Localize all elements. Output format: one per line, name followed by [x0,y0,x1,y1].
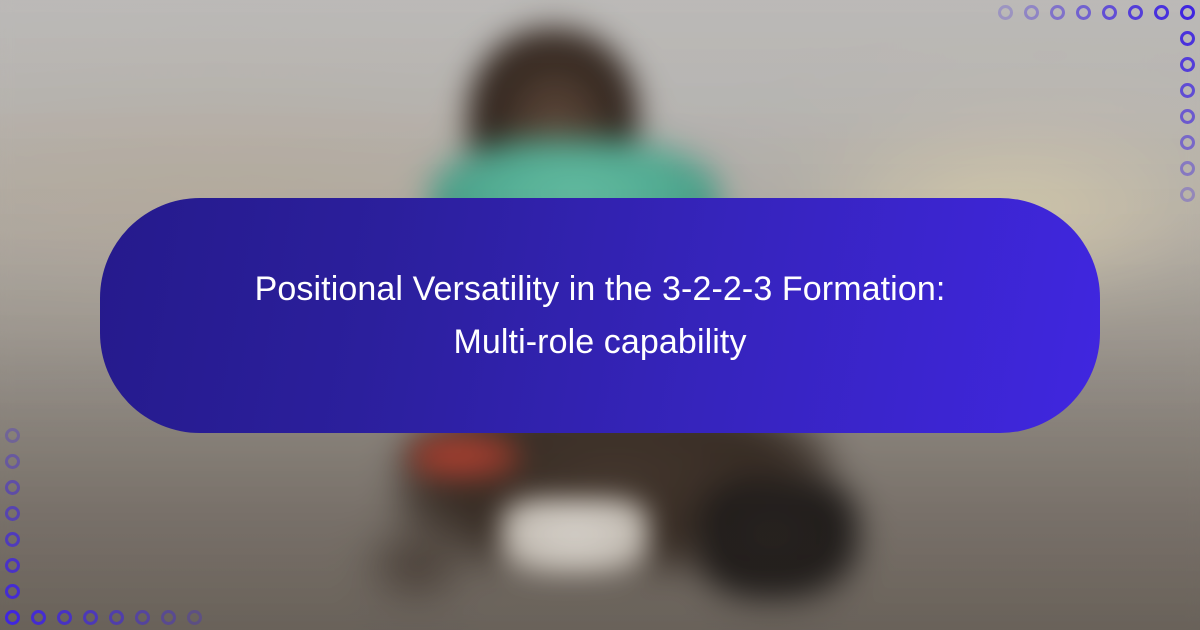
decor-dot [5,428,20,443]
decor-dot [1180,187,1195,202]
decor-dot [1180,135,1195,150]
decor-dot [1180,83,1195,98]
decor-dot [31,610,46,625]
decor-dot [83,610,98,625]
decor-dot [161,610,176,625]
page-title: Positional Versatility in the 3-2-2-3 Fo… [255,263,946,368]
decor-dot [5,480,20,495]
decor-dot [998,5,1013,20]
decor-dot [109,610,124,625]
decor-dot [1180,57,1195,72]
decor-dot [5,558,20,573]
decor-dot [5,506,20,521]
decor-dot [1024,5,1039,20]
decor-dot [57,610,72,625]
social-card-canvas: Positional Versatility in the 3-2-2-3 Fo… [0,0,1200,630]
decor-dot [1180,31,1195,46]
decor-dot [5,610,20,625]
decor-dot [1050,5,1065,20]
decor-dot [1180,109,1195,124]
decor-dot [1154,5,1169,20]
decor-dot [1076,5,1091,20]
decor-dot [5,454,20,469]
decor-dot [187,610,202,625]
page-title-line-1: Positional Versatility in the 3-2-2-3 Fo… [255,270,946,308]
decor-dot [1180,161,1195,176]
decor-dot [5,532,20,547]
decor-dot [1102,5,1117,20]
decor-dot [5,584,20,599]
page-title-line-2: Multi-role capability [453,323,746,361]
decor-dot [1180,5,1195,20]
decor-dot [135,610,150,625]
title-card: Positional Versatility in the 3-2-2-3 Fo… [100,198,1100,433]
decor-dot [1128,5,1143,20]
